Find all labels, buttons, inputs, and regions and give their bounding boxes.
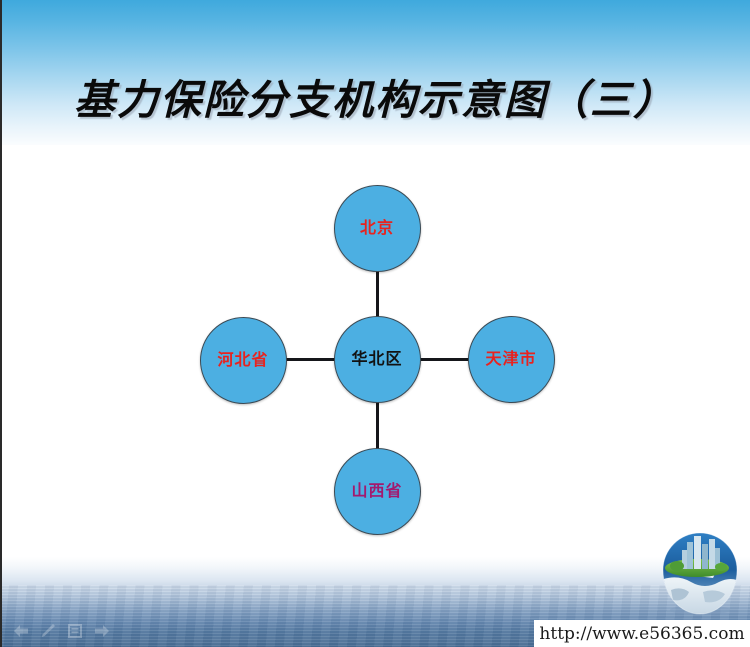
node-label-shanxi: 山西省 [351, 483, 402, 499]
connector-center-to-bottom [376, 402, 379, 450]
ghost-icons-group [12, 620, 117, 642]
org-chart-diagram: 北京 河北省 华北区 天津市 山西省 [0, 0, 750, 647]
connector-center-to-top [376, 270, 379, 318]
back-arrow-icon [12, 623, 30, 639]
earth-city-globe-icon [657, 532, 743, 618]
node-tianjin[interactable]: 天津市 [468, 316, 555, 403]
node-shanxi[interactable]: 山西省 [334, 448, 421, 535]
connector-center-to-left [284, 358, 336, 361]
node-label-tianjin: 天津市 [485, 351, 536, 367]
connector-center-to-right [418, 358, 470, 361]
slide-canvas: 基力保险分支机构示意图（三） 北京 河北省 华北区 天津市 山西省 [0, 0, 750, 647]
forward-arrow-icon [93, 623, 111, 639]
pencil-icon [40, 623, 57, 639]
node-beijing[interactable]: 北京 [334, 185, 421, 272]
document-icon [67, 623, 83, 639]
node-label-beijing: 北京 [360, 220, 394, 236]
node-huabei-center[interactable]: 华北区 [334, 316, 421, 403]
node-label-huabei: 华北区 [351, 351, 402, 367]
node-label-hebei: 河北省 [217, 352, 268, 368]
node-hebei[interactable]: 河北省 [200, 317, 287, 404]
watermark-bar: http://www.e56365.com [534, 620, 750, 647]
watermark-url: http://www.e56365.com [539, 624, 744, 644]
